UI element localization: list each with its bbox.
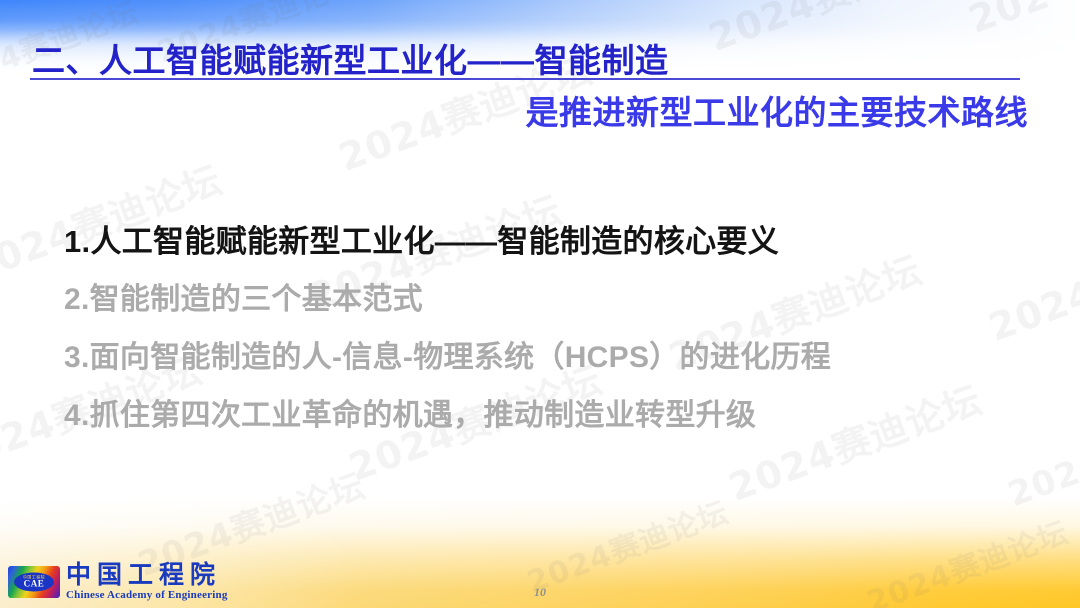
outline-item-2: 2.智能制造的三个基本范式 bbox=[64, 285, 1054, 315]
slide-title-line-1: 二、人工智能赋能新型工业化——智能制造 bbox=[32, 34, 669, 82]
slide-canvas: 2024赛迪论坛2024赛迪论坛2024赛迪论坛2024赛迪论坛2024赛迪论坛… bbox=[0, 0, 1080, 608]
organization-name-chinese: 中国工程院 bbox=[66, 562, 228, 588]
outline-item-1: 1.人工智能赋能新型工业化——智能制造的核心要义 bbox=[64, 226, 1054, 257]
outline-item-4: 4.抓住第四次工业革命的机遇，推动制造业转型升级 bbox=[64, 401, 1054, 431]
outline-list: 1.人工智能赋能新型工业化——智能制造的核心要义 2.智能制造的三个基本范式 3… bbox=[64, 226, 1054, 459]
title-underline-rule bbox=[30, 78, 1020, 80]
page-number: 10 bbox=[0, 585, 1080, 600]
outline-item-3: 3.面向智能制造的人-信息-物理系统（HCPS）的进化历程 bbox=[64, 343, 1054, 373]
slide-title-line-2: 是推进新型工业化的主要技术路线 bbox=[526, 86, 1029, 134]
